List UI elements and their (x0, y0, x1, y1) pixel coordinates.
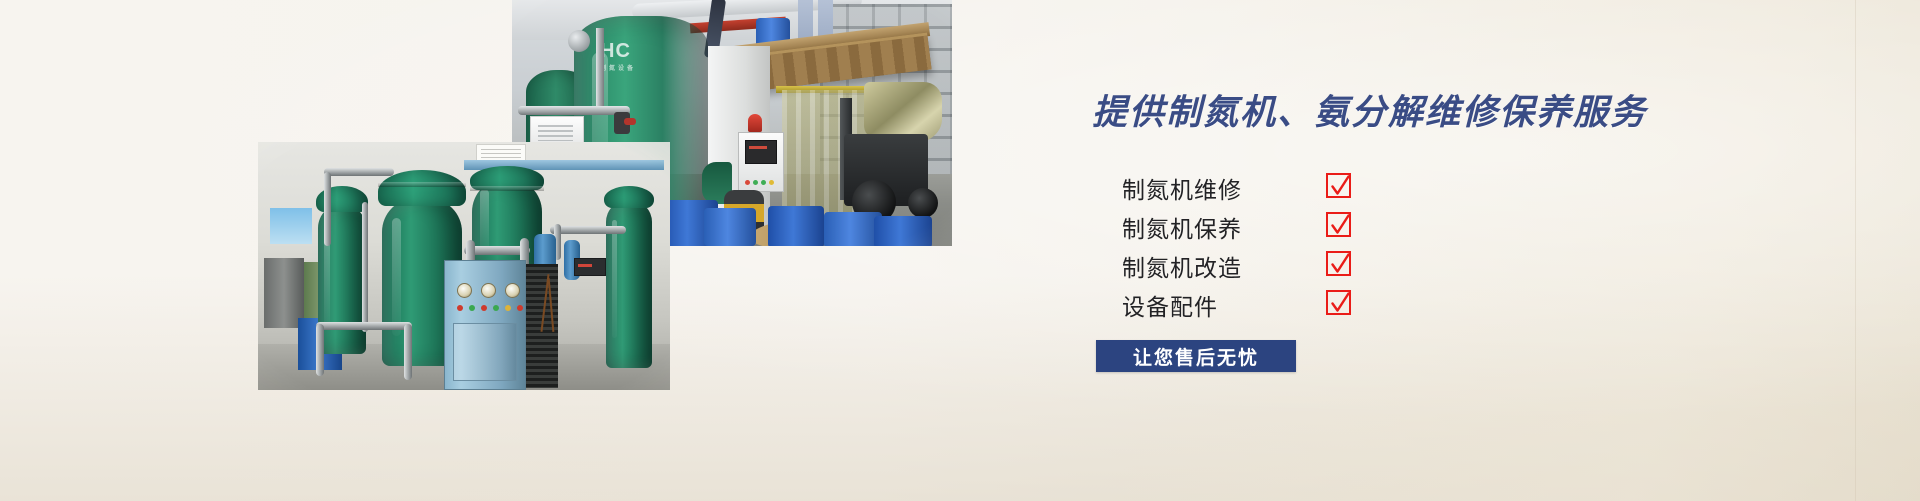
checkbox-checked-icon[interactable] (1326, 251, 1351, 276)
service-label: 制氮机维修 (1122, 171, 1242, 205)
service-item-maintenance[interactable]: 制氮机保养 (1122, 207, 1392, 246)
service-list: 制氮机维修 制氮机保养 制氮机改造 设备 (1122, 168, 1392, 324)
checkbox-checked-icon[interactable] (1326, 290, 1351, 315)
photo-brand-logo: HC制氮设备 (600, 40, 636, 72)
service-banner: HC制氮设备 (0, 0, 1920, 501)
checkbox-checked-icon[interactable] (1326, 212, 1351, 237)
service-label: 制氮机改造 (1122, 249, 1242, 283)
service-item-repair[interactable]: 制氮机维修 (1122, 168, 1392, 207)
service-label: 设备配件 (1122, 288, 1218, 322)
banner-background-seam (1855, 0, 1856, 501)
photo-nitrogen-plant-bottom (258, 142, 670, 390)
cta-button[interactable]: 让您售后无忧 (1096, 340, 1296, 372)
service-item-retrofit[interactable]: 制氮机改造 (1122, 246, 1392, 285)
cta-button-label: 让您售后无忧 (1133, 343, 1259, 370)
service-item-parts[interactable]: 设备配件 (1122, 285, 1392, 324)
service-label: 制氮机保养 (1122, 210, 1242, 244)
banner-headline: 提供制氮机、氨分解维修保养服务 (1092, 84, 1652, 135)
checkbox-checked-icon[interactable] (1326, 173, 1351, 198)
